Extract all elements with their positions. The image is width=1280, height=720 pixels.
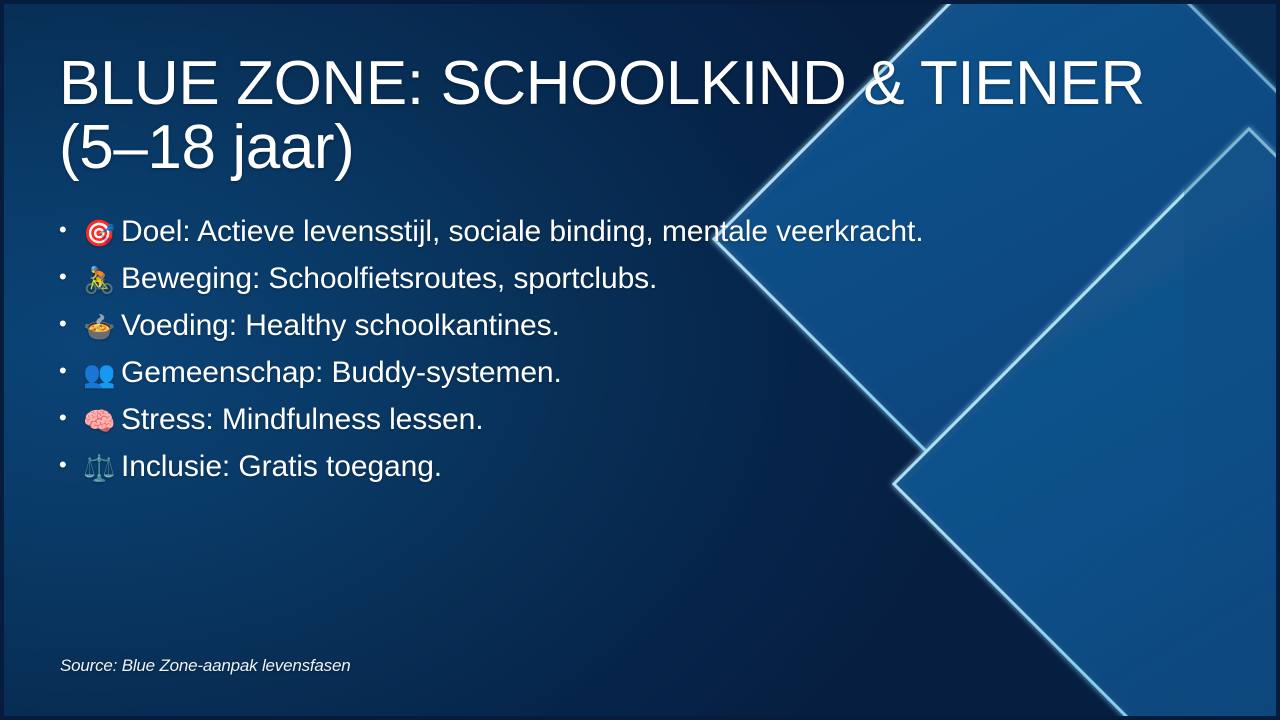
- bullet-marker-icon: •: [59, 219, 83, 241]
- slide-title: BLUE ZONE: SCHOOLKIND & TIENER (5–18 jaa…: [59, 52, 1179, 180]
- list-item-label: Inclusie: Gratis toegang.: [121, 452, 1119, 482]
- cyclist-emoji: 🚴: [83, 268, 121, 294]
- list-item: • 🎯 Doel: Actieve levensstijl, sociale b…: [59, 217, 1119, 264]
- list-item-label: Doel: Actieve levensstijl, sociale bindi…: [121, 217, 1119, 247]
- list-item: • 👥 Gemeenschap: Buddy-systemen.: [59, 358, 1119, 405]
- presentation-slide: BLUE ZONE: SCHOOLKIND & TIENER (5–18 jaa…: [0, 0, 1280, 720]
- busts-in-silhouette-emoji: 👥: [83, 362, 121, 388]
- brain-emoji: 🧠: [83, 409, 121, 435]
- title-block: BLUE ZONE: SCHOOLKIND & TIENER (5–18 jaa…: [59, 52, 1179, 180]
- bullet-marker-icon: •: [59, 360, 83, 382]
- list-item-label: Stress: Mindfulness lessen.: [121, 405, 1119, 435]
- list-item-label: Gemeenschap: Buddy-systemen.: [121, 358, 1119, 388]
- list-item: • 🚴 Beweging: Schoolfietsroutes, sportcl…: [59, 264, 1119, 311]
- dart-emoji: 🎯: [83, 221, 121, 247]
- source-note: Source: Blue Zone-aanpak levensfasen: [60, 656, 351, 676]
- list-item: • 🍲 Voeding: Healthy schoolkantines.: [59, 311, 1119, 358]
- decorative-right-panel: [1184, 4, 1276, 716]
- list-item: • 🧠 Stress: Mindfulness lessen.: [59, 405, 1119, 452]
- list-item-label: Voeding: Healthy schoolkantines.: [121, 311, 1119, 341]
- balance-scale-emoji: ⚖️: [83, 456, 121, 482]
- list-item: • ⚖️ Inclusie: Gratis toegang.: [59, 452, 1119, 499]
- bullet-marker-icon: •: [59, 266, 83, 288]
- list-item-label: Beweging: Schoolfietsroutes, sportclubs.: [121, 264, 1119, 294]
- content-body: • 🎯 Doel: Actieve levensstijl, sociale b…: [59, 217, 1119, 499]
- bullet-marker-icon: •: [59, 313, 83, 335]
- bullet-marker-icon: •: [59, 454, 83, 476]
- bullet-list: • 🎯 Doel: Actieve levensstijl, sociale b…: [59, 217, 1119, 499]
- bullet-marker-icon: •: [59, 407, 83, 429]
- pot-of-food-emoji: 🍲: [83, 315, 121, 341]
